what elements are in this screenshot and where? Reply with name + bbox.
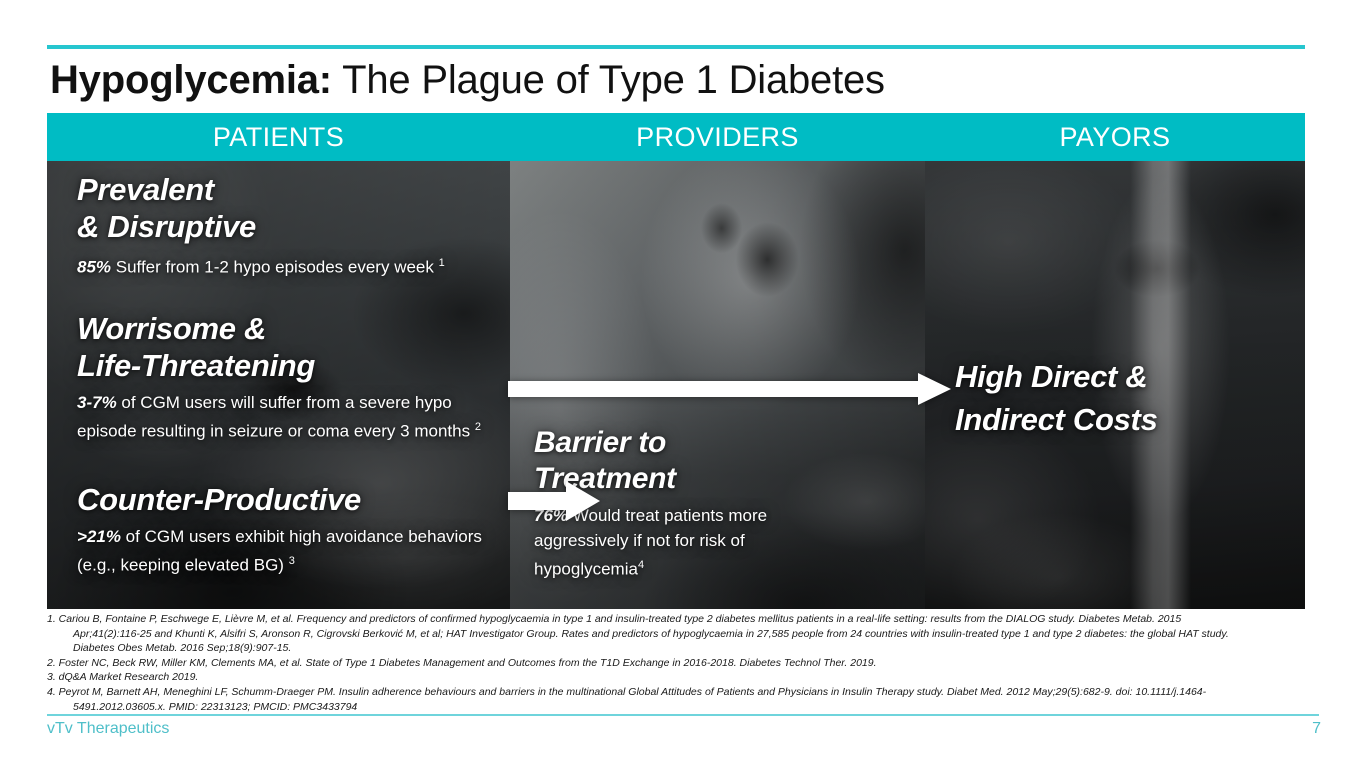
stat-value: 85% [77,258,111,277]
references-list: 1. Cariou B, Fontaine P, Eschwege E, Liè… [47,612,1319,714]
reference-1-line-2: Apr;41(2):116-25 and Khunti K, Alsifri S… [61,627,1319,642]
stat-text: of CGM users exhibit high avoidance beha… [77,527,482,575]
page-title-light: The Plague of Type 1 Diabetes [332,58,885,102]
footer-divider [47,714,1319,716]
patients-block-prevalent: Prevalent & Disruptive 85% Suffer from 1… [77,171,477,280]
reference-3-line-1: 3. dQ&A Market Research 2019. [47,671,198,683]
headline-line-1: Barrier to [534,426,666,459]
stat-text: of CGM users will suffer from a severe h… [77,393,475,441]
reference-item-1: 1. Cariou B, Fontaine P, Eschwege E, Liè… [47,612,1319,656]
reference-4-line-1: 4. Peyrot M, Barnett AH, Meneghini LF, S… [47,686,1206,698]
reference-marker: 4 [638,559,644,571]
top-accent-rule [47,45,1305,49]
headline-line-1: Counter-Productive [77,482,361,517]
column-header-payors: PAYORS [925,113,1305,161]
patients-headline-counter-productive: Counter-Productive [77,481,497,518]
page-title-strong: Hypoglycemia: [50,58,332,102]
footer-brand: vTv Therapeutics [47,720,169,738]
column-header-providers: PROVIDERS [510,113,925,161]
headline-line-2: & Disruptive [77,209,256,244]
stat-text: Suffer from 1-2 hypo episodes every week [111,258,439,277]
headline-line-1: High Direct & [955,359,1147,394]
reference-marker: 3 [289,555,295,567]
patients-headline-worrisome: Worrisome & Life-Threatening [77,310,487,384]
patients-headline-prevalent: Prevalent & Disruptive [77,171,477,245]
headline-line-2: Indirect Costs [955,402,1158,437]
reference-4-line-2: 5491.2012.03605.x. PMID: 22313123; PMCID… [61,700,1319,715]
headline-line-1: Prevalent [77,172,214,207]
patients-body-counter-productive: >21% of CGM users exhibit high avoidance… [77,524,497,578]
stat-value: >21% [77,527,121,546]
reference-item-2: 2. Foster NC, Beck RW, Miller KM, Clemen… [47,656,1319,671]
reference-marker: 1 [439,257,445,269]
stat-value: 3-7% [77,393,117,412]
column-header-band: PATIENTS PROVIDERS PAYORS [47,113,1305,161]
headline-line-1: Worrisome & [77,311,266,346]
reference-item-4: 4. Peyrot M, Barnett AH, Meneghini LF, S… [47,685,1319,714]
headline-line-2: Life-Threatening [77,348,315,383]
reference-item-3: 3. dQ&A Market Research 2019. [47,670,1319,685]
patients-body-worrisome: 3-7% of CGM users will suffer from a sev… [77,390,487,444]
reference-2-line-1: 2. Foster NC, Beck RW, Miller KM, Clemen… [47,657,877,669]
patients-block-counter-productive: Counter-Productive >21% of CGM users exh… [77,481,497,578]
reference-1-line-3: Diabetes Obes Metab. 2016 Sep;18(9):907-… [61,641,1319,656]
patients-body-prevalent: 85% Suffer from 1-2 hypo episodes every … [77,251,477,280]
payors-block-costs: High Direct & Indirect Costs [955,355,1285,441]
reference-1-line-1: 1. Cariou B, Fontaine P, Eschwege E, Liè… [47,613,1181,625]
patients-to-providers-arrow [508,481,600,521]
payors-headline-costs: High Direct & Indirect Costs [955,355,1285,441]
column-header-patients: PATIENTS [47,113,510,161]
reference-marker: 2 [475,421,481,433]
slide-canvas: Hypoglycemia: The Plague of Type 1 Diabe… [0,0,1365,768]
providers-to-payors-arrow [508,373,951,405]
panel-payors: High Direct & Indirect Costs [925,161,1305,609]
page-title: Hypoglycemia: The Plague of Type 1 Diabe… [50,52,1310,110]
panel-patients: Prevalent & Disruptive 85% Suffer from 1… [47,161,510,609]
patients-block-worrisome: Worrisome & Life-Threatening 3-7% of CGM… [77,310,487,444]
footer-page-number: 7 [1312,720,1321,738]
